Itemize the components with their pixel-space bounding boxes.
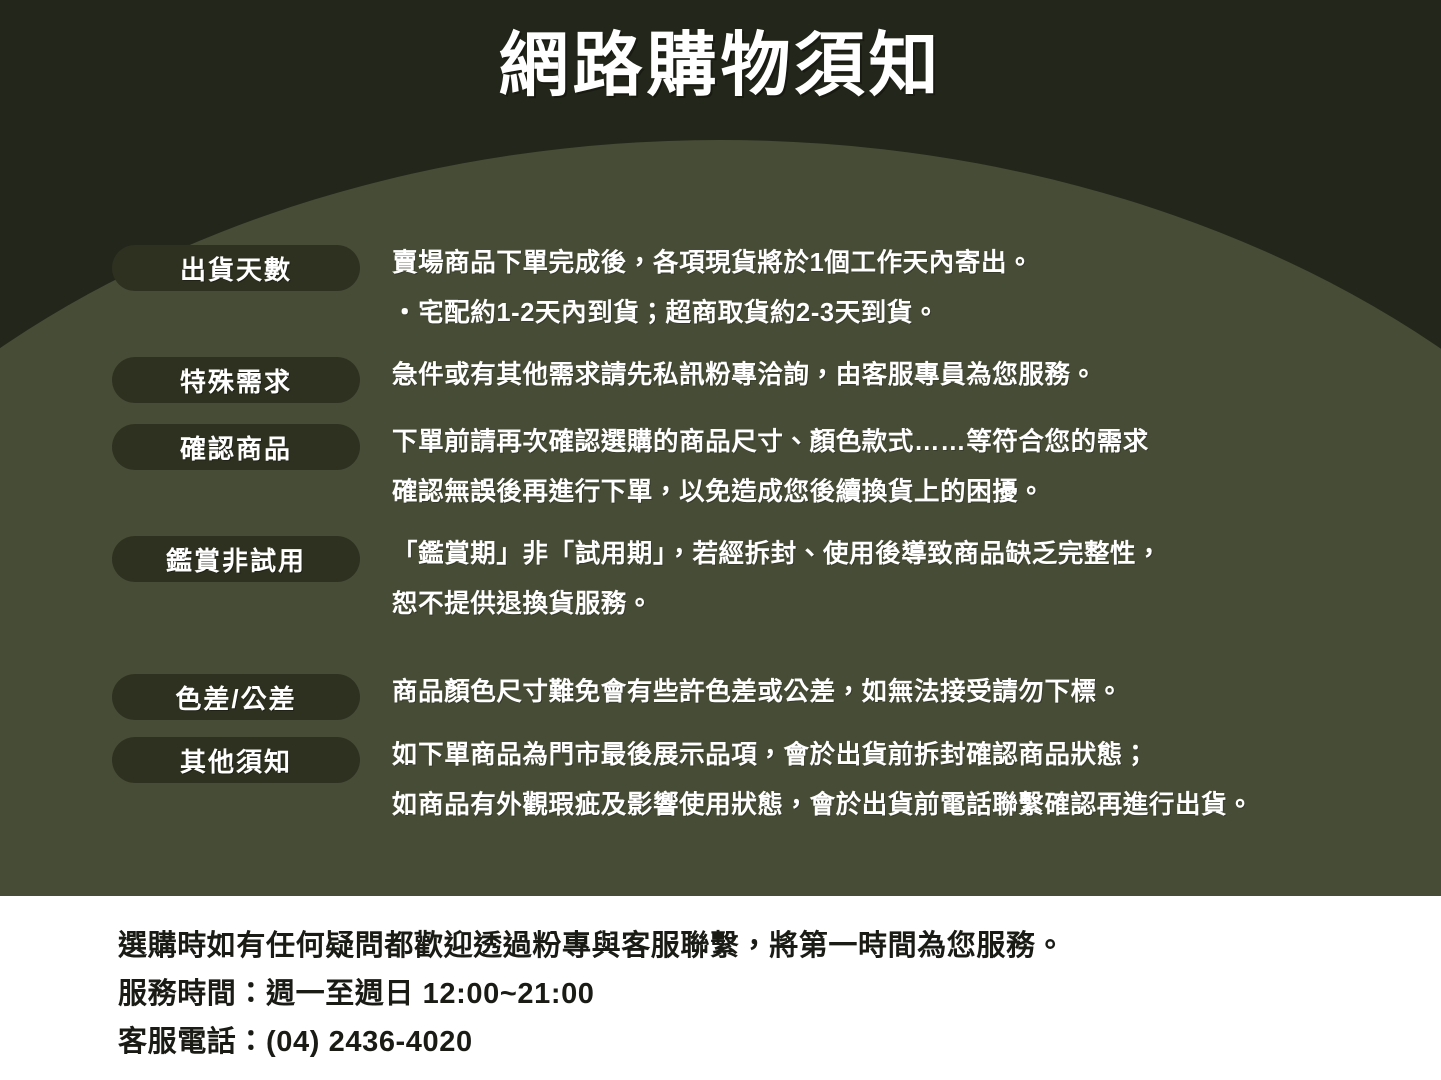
notice-body: 如下單商品為門市最後展示品項，會於出貨前拆封確認商品狀態； 如商品有外觀瑕疵及影… (360, 730, 1441, 830)
notice-label-badge: 色差/公差 (112, 674, 360, 720)
notice-line: 確認無誤後再進行下單，以免造成您後續換貨上的困擾。 (392, 467, 1441, 517)
notice-row: 鑑賞非試用 「鑑賞期」非「試用期」，若經拆封、使用後導致商品缺乏完整性， 恕不提… (0, 529, 1441, 629)
notice-list: 出貨天數 賣場商品下單完成後，各項現貨將於1個工作天內寄出。 ・宅配約1-2天內… (0, 238, 1441, 830)
notice-row: 其他須知 如下單商品為門市最後展示品項，會於出貨前拆封確認商品狀態； 如商品有外… (0, 730, 1441, 830)
notice-line: 「鑑賞期」非「試用期」，若經拆封、使用後導致商品缺乏完整性， (392, 529, 1441, 579)
notice-label-badge: 鑑賞非試用 (112, 536, 360, 582)
notice-body: 賣場商品下單完成後，各項現貨將於1個工作天內寄出。 ・宅配約1-2天內到貨；超商… (360, 238, 1441, 338)
notice-label-badge: 特殊需求 (112, 357, 360, 403)
notice-line: ・宅配約1-2天內到貨；超商取貨約2-3天到貨。 (392, 288, 1441, 338)
footer-service-phone: 客服電話：(04) 2436-4020 (118, 1018, 1441, 1066)
notice-row: 出貨天數 賣場商品下單完成後，各項現貨將於1個工作天內寄出。 ・宅配約1-2天內… (0, 238, 1441, 338)
notice-line: 如商品有外觀瑕疵及影響使用狀態，會於出貨前電話聯繫確認再進行出貨。 (392, 780, 1441, 830)
notice-label-badge: 確認商品 (112, 424, 360, 470)
notice-row: 色差/公差 商品顏色尺寸難免會有些許色差或公差，如無法接受請勿下標。 (0, 667, 1441, 720)
notice-line: 恕不提供退換貨服務。 (392, 579, 1441, 629)
notice-row: 確認商品 下單前請再次確認選購的商品尺寸、顏色款式……等符合您的需求 確認無誤後… (0, 417, 1441, 517)
notice-line: 賣場商品下單完成後，各項現貨將於1個工作天內寄出。 (392, 238, 1441, 288)
notice-row: 特殊需求 急件或有其他需求請先私訊粉專洽詢，由客服專員為您服務。 (0, 350, 1441, 403)
footer-service-note: 選購時如有任何疑問都歡迎透過粉專與客服聯繫，將第一時間為您服務。 (118, 922, 1441, 970)
notice-page: 網路購物須知 出貨天數 賣場商品下單完成後，各項現貨將於1個工作天內寄出。 ・宅… (0, 0, 1441, 1080)
notice-line: 如下單商品為門市最後展示品項，會於出貨前拆封確認商品狀態； (392, 730, 1441, 780)
notice-label-badge: 其他須知 (112, 737, 360, 783)
notice-line: 商品顏色尺寸難免會有些許色差或公差，如無法接受請勿下標。 (392, 667, 1441, 717)
page-title: 網路購物須知 (0, 26, 1441, 104)
notice-label-badge: 出貨天數 (112, 245, 360, 291)
notice-line: 下單前請再次確認選購的商品尺寸、顏色款式……等符合您的需求 (392, 417, 1441, 467)
notice-body: 「鑑賞期」非「試用期」，若經拆封、使用後導致商品缺乏完整性， 恕不提供退換貨服務… (360, 529, 1441, 629)
notice-body: 急件或有其他需求請先私訊粉專洽詢，由客服專員為您服務。 (360, 350, 1441, 400)
notice-body: 下單前請再次確認選購的商品尺寸、顏色款式……等符合您的需求 確認無誤後再進行下單… (360, 417, 1441, 517)
footer-service-hours: 服務時間：週一至週日 12:00~21:00 (118, 970, 1441, 1018)
notice-line: 急件或有其他需求請先私訊粉專洽詢，由客服專員為您服務。 (392, 350, 1441, 400)
notice-body: 商品顏色尺寸難免會有些許色差或公差，如無法接受請勿下標。 (360, 667, 1441, 717)
footer-contact: 選購時如有任何疑問都歡迎透過粉專與客服聯繫，將第一時間為您服務。 服務時間：週一… (0, 896, 1441, 1080)
